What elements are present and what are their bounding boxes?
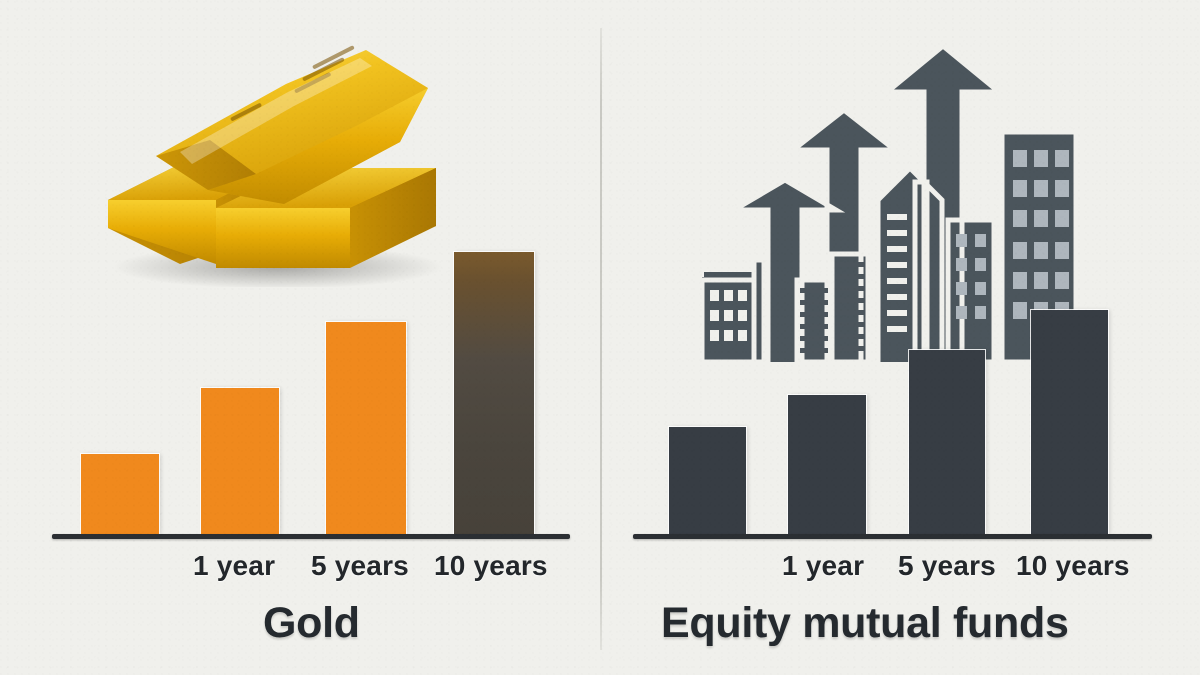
tick-label-equity-5-years: 5 years	[898, 550, 996, 582]
bar-equity-0	[669, 427, 746, 534]
infographic-canvas: 1 year 5 years 10 years Gold	[0, 0, 1200, 675]
bar-equity-2	[909, 350, 985, 534]
bar-equity-1	[788, 395, 866, 534]
tick-label-equity-1-year: 1 year	[782, 550, 864, 582]
panel-gold: 1 year 5 years 10 years Gold	[0, 0, 600, 675]
bar-equity-3	[1031, 310, 1108, 534]
tick-label-gold-1-year: 1 year	[193, 550, 275, 582]
bar-gold-2	[326, 322, 406, 534]
bar-gold-1	[201, 388, 279, 534]
gold-bars-icon	[88, 22, 458, 287]
panel-title-gold: Gold	[263, 599, 360, 648]
tick-label-gold-10-years: 10 years	[434, 550, 548, 582]
building-right-mid	[948, 220, 994, 362]
tick-label-equity-10-years: 10 years	[1016, 550, 1130, 582]
axis-line-gold	[52, 534, 570, 539]
bar-gold-0	[81, 454, 159, 534]
cityscape-growth-arrows-icon	[672, 32, 1092, 362]
axis-line-equity	[633, 534, 1152, 539]
bar-gold-3	[454, 252, 534, 534]
panel-divider	[600, 28, 602, 650]
panel-title-equity: Equity mutual funds	[661, 599, 1069, 648]
building-windows-left	[710, 290, 747, 341]
tick-label-gold-5-years: 5 years	[311, 550, 409, 582]
